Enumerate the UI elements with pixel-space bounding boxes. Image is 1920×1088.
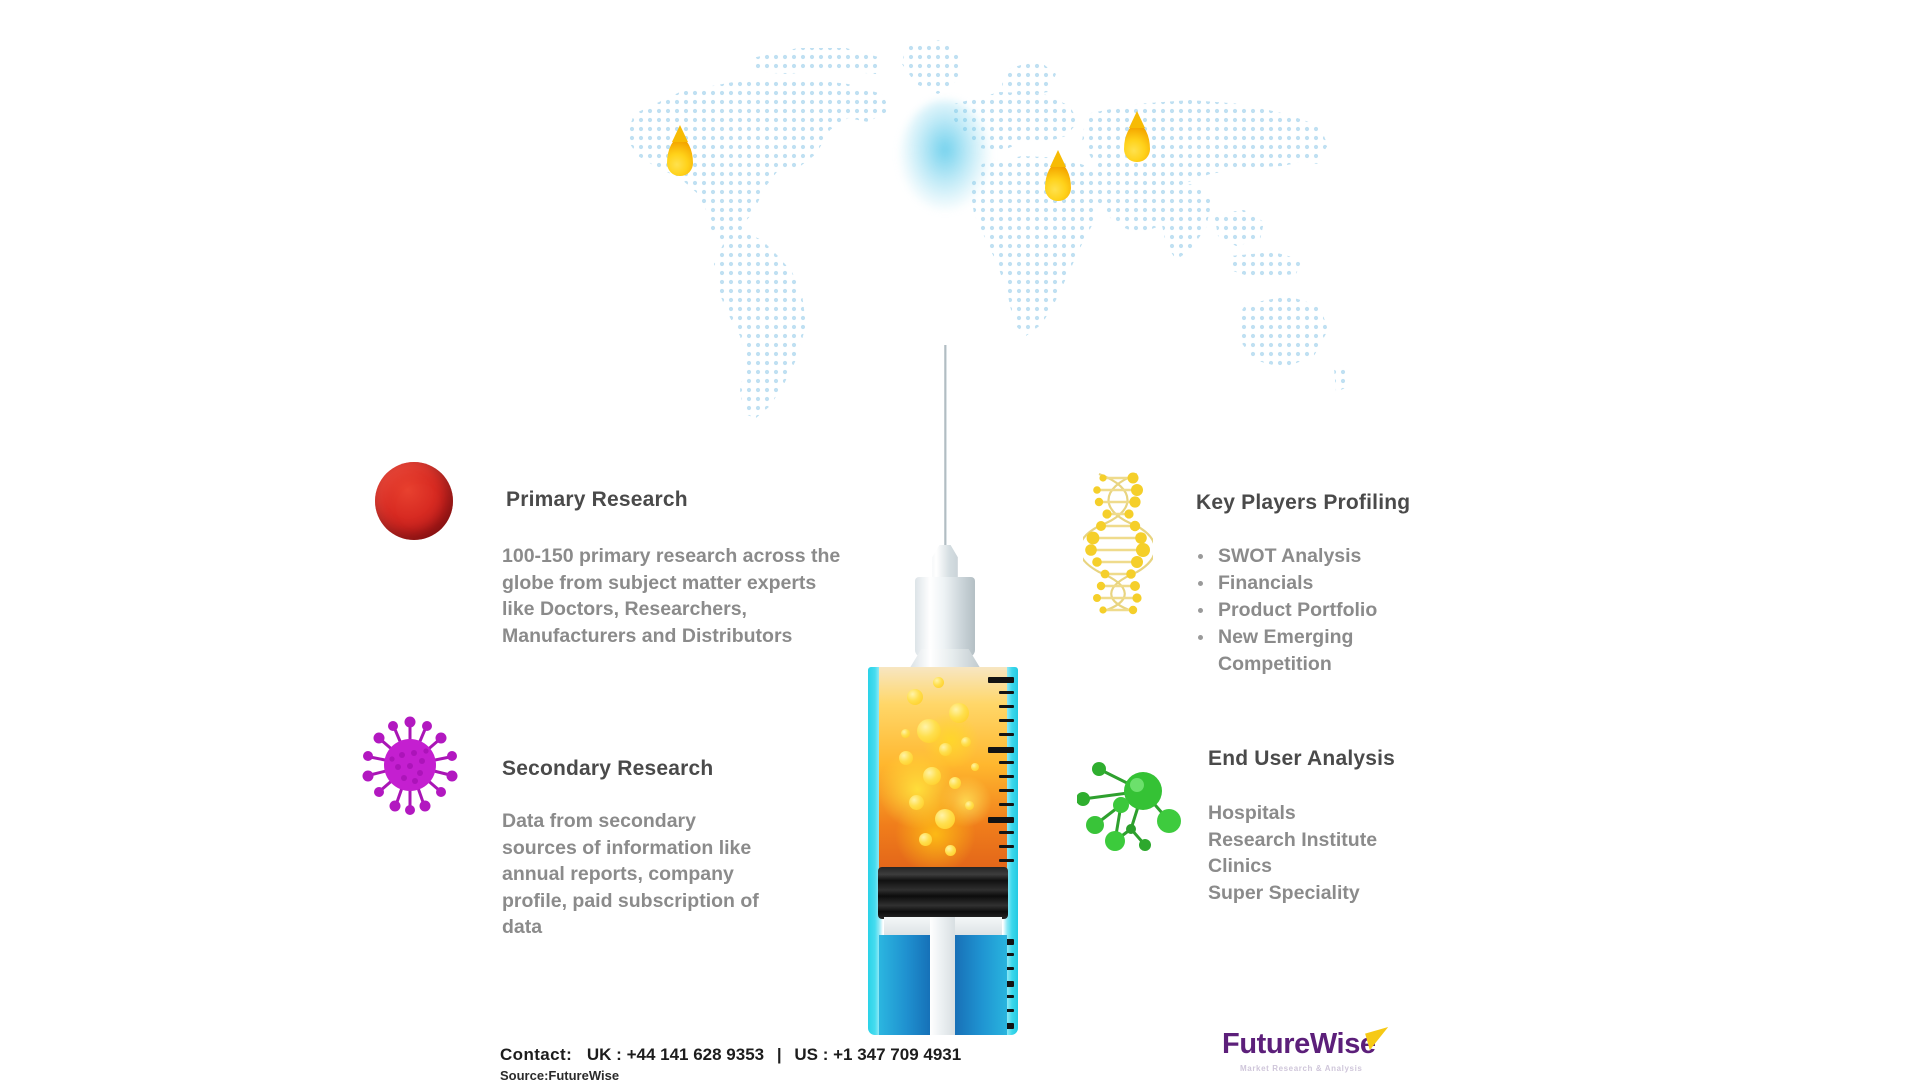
uk-phone-number: +44 141 628 9353	[627, 1045, 765, 1064]
bullet-dot-icon	[1198, 554, 1203, 559]
list-item-label: Financials	[1218, 572, 1313, 594]
list-item: Product Portfolio	[1196, 597, 1446, 624]
bullet-dot-icon	[1198, 581, 1203, 586]
logo-tagline: Market Research & Analysis	[1240, 1064, 1362, 1073]
list-item: Clinics	[1208, 853, 1458, 880]
syringe-luer-collar	[915, 577, 975, 657]
molecule-icon	[1077, 755, 1189, 855]
logo-wordmark: FutureWise	[1222, 1028, 1376, 1061]
syringe-barrel	[868, 667, 1018, 1035]
syringe-plunger-rod	[930, 917, 955, 1035]
key-players-profiling-heading: Key Players Profiling	[1196, 491, 1410, 515]
secondary-research-heading: Secondary Research	[502, 757, 713, 781]
list-item: SWOT Analysis	[1196, 543, 1446, 570]
list-item: New Emerging Competition	[1196, 624, 1446, 678]
source-label: Source:FutureWise	[500, 1068, 619, 1083]
syringe-plunger-seal	[878, 867, 1008, 919]
list-item: Hospitals	[1208, 800, 1458, 827]
list-item: Research Institute	[1208, 827, 1458, 854]
bullet-dot-icon	[1198, 608, 1203, 613]
uk-label: UK :	[587, 1045, 622, 1064]
dna-helix-icon	[1083, 470, 1153, 615]
list-item-label: SWOT Analysis	[1218, 545, 1361, 567]
list-item-label: New Emerging	[1218, 626, 1353, 648]
syringe-needle	[944, 345, 947, 555]
key-players-profiling-list: SWOT Analysis Financials Product Portfol…	[1196, 543, 1446, 678]
secondary-research-body: Data from secondary sources of informati…	[502, 808, 772, 941]
list-item: Super Speciality	[1208, 880, 1458, 907]
virus-icon	[358, 713, 462, 817]
end-user-analysis-heading: End User Analysis	[1208, 747, 1395, 771]
end-user-analysis-list: Hospitals Research Institute Clinics Sup…	[1208, 800, 1458, 906]
contact-label: Contact:	[500, 1045, 572, 1064]
syringe-lower-barrel-right	[955, 935, 1007, 1035]
phone-separator: |	[777, 1045, 782, 1064]
futurewise-logo: FutureWise Market Research & Analysis	[1222, 1028, 1412, 1084]
red-blood-cell-icon	[375, 462, 453, 540]
syringe-illustration	[868, 345, 1018, 1035]
syringe-needle-hub	[925, 545, 965, 581]
us-label: US :	[794, 1045, 828, 1064]
list-item: Financials	[1196, 570, 1446, 597]
infographic-canvas: Primary Research 100-150 primary researc…	[0, 0, 1920, 1088]
primary-research-body: 100-150 primary research across the glob…	[502, 543, 842, 649]
list-item-label: Product Portfolio	[1218, 599, 1377, 621]
contact-line: Contact: UK : +44 141 628 9353 | US : +1…	[500, 1045, 961, 1065]
primary-research-heading: Primary Research	[506, 488, 688, 512]
us-phone-number: +1 347 709 4931	[833, 1045, 961, 1064]
list-item-label-continued: Competition	[1218, 651, 1446, 678]
syringe-lower-barrel-left	[879, 935, 930, 1035]
bullet-dot-icon	[1198, 635, 1203, 640]
